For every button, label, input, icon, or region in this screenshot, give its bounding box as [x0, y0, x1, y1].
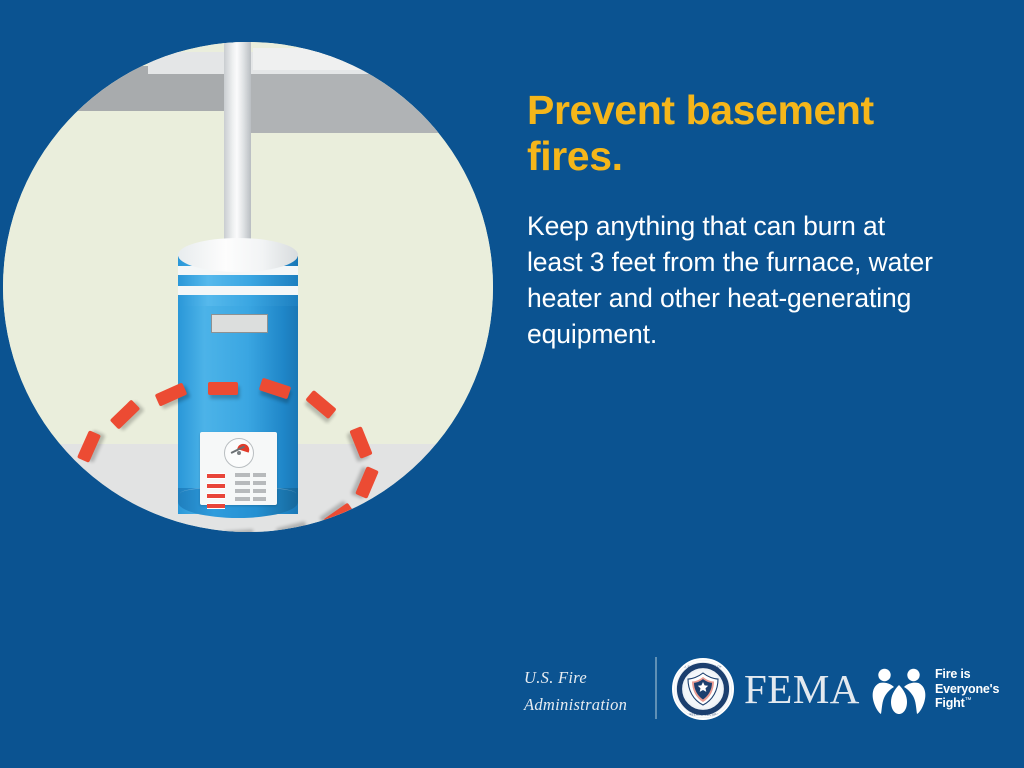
- water-heater-white-band-2: [178, 286, 298, 295]
- trademark-symbol: ™: [965, 697, 972, 704]
- fema-logo: U.S. DEPARTMENT OF HOMELAND SECURITY FEM…: [672, 659, 860, 719]
- feef-line-3-word: Fight: [935, 696, 965, 710]
- usfa-line-2: Administration: [524, 692, 654, 719]
- usfa-wordmark: U.S. Fire Administration: [524, 665, 654, 718]
- clearance-dash: [78, 504, 100, 532]
- illustration: [0, 0, 512, 600]
- clearance-zone-dashed-ellipse: [58, 382, 388, 532]
- ceiling-joist-right: [253, 48, 433, 70]
- two-figures-flame-icon: [870, 663, 928, 715]
- water-heater-blue-band-2: [178, 295, 298, 306]
- scene-circle: [3, 42, 493, 532]
- clearance-dash: [349, 426, 372, 459]
- clearance-dash: [115, 526, 147, 532]
- feef-line-3: Fight™: [935, 696, 999, 711]
- feef-line-2: Everyone's: [935, 682, 999, 697]
- svg-text:HOMELAND SECURITY: HOMELAND SECURITY: [683, 712, 722, 716]
- water-heater-top-cap: [178, 238, 298, 272]
- water-heater-nameplate: [211, 314, 268, 333]
- water-heater-blue-band-1: [178, 275, 298, 286]
- clearance-dash: [305, 390, 336, 419]
- footer-divider: [655, 657, 657, 719]
- clearance-dash: [323, 503, 355, 531]
- fema-wordmark: FEMA: [744, 669, 860, 710]
- fire-is-everyones-fight-logo: Fire is Everyone's Fight™: [870, 659, 999, 719]
- fire-is-everyones-fight-text: Fire is Everyone's Fight™: [935, 667, 999, 711]
- page-title: Prevent basement fires.: [527, 88, 957, 180]
- clearance-dash: [110, 399, 141, 429]
- svg-text:U.S. DEPARTMENT OF: U.S. DEPARTMENT OF: [684, 665, 722, 669]
- poster-canvas: Prevent basement fires. Keep anything th…: [0, 0, 1024, 768]
- clearance-dash: [208, 382, 238, 395]
- clearance-dash: [64, 471, 81, 503]
- ceiling-beam-right: [251, 66, 493, 133]
- dhs-seal-icon: U.S. DEPARTMENT OF HOMELAND SECURITY: [672, 658, 734, 720]
- usfa-line-1: U.S. Fire: [524, 665, 654, 692]
- clearance-dash: [155, 382, 188, 406]
- footer-logos: U.S. Fire Administration U.S. DEPARTMENT…: [0, 645, 1024, 740]
- feef-line-1: Fire is: [935, 667, 999, 682]
- flue-pipe: [224, 42, 251, 257]
- body-text: Keep anything that can burn at least 3 f…: [527, 208, 947, 352]
- clearance-dash: [279, 525, 311, 532]
- clearance-dash: [77, 430, 101, 463]
- clearance-dash: [355, 466, 379, 499]
